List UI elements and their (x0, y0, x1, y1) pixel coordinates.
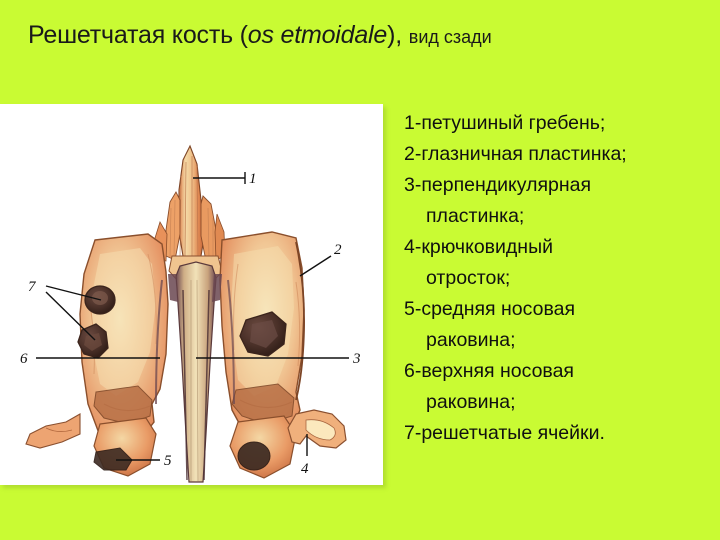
legend-item-6-line1: 6-верхняя носовая (404, 360, 574, 382)
legend-item-3-line1: 3-перпендикулярная (404, 174, 591, 196)
callout-number-6: 6 (20, 351, 28, 367)
title-main-text: Решетчатая кость ( (28, 21, 248, 49)
legend-list: 1-петушиный гребень; 2-глазничная пласти… (404, 108, 714, 449)
legend-item-3: 3-перпендикулярная пластинка; (404, 170, 714, 232)
callout-number-7: 7 (28, 279, 37, 295)
legend-item-2-line1: 2-глазничная пластинка; (404, 143, 627, 165)
legend-item-4-line2: отросток; (404, 263, 714, 294)
page-title: Решетчатая кость (os etmoidale), вид сза… (28, 22, 698, 50)
legend-item-3-line2: пластинка; (404, 201, 714, 232)
legend-item-5: 5-средняя носовая раковина; (404, 294, 714, 356)
title-latin-term: os etmoidale (248, 21, 387, 49)
crista-galli-structure (155, 146, 225, 280)
legend-item-5-line1: 5-средняя носовая (404, 298, 575, 320)
legend-item-4-line1: 4-крючковидный (404, 236, 553, 258)
callout-number-5: 5 (164, 453, 172, 469)
legend-item-5-line2: раковина; (404, 325, 714, 356)
left-labyrinth (26, 234, 168, 476)
callout-number-4: 4 (301, 461, 309, 477)
legend-item-1-line1: 1-петушиный гребень; (404, 112, 605, 134)
callout-number-1: 1 (249, 171, 257, 187)
callout-number-2: 2 (334, 242, 342, 258)
legend-item-4: 4-крючковидный отросток; (404, 232, 714, 294)
title-main-after: ), (387, 21, 409, 49)
legend-item-7-line1: 7-решетчатые ячейки. (404, 422, 605, 444)
legend-item-1: 1-петушиный гребень; (404, 108, 714, 139)
slide: Решетчатая кость (os etmoidale), вид сза… (0, 0, 720, 540)
legend-item-6: 6-верхняя носовая раковина; (404, 356, 714, 418)
legend-item-6-line2: раковина; (404, 387, 714, 418)
callout-number-3: 3 (352, 351, 361, 367)
right-labyrinth (220, 232, 346, 478)
title-subtitle: вид сзади (409, 27, 492, 47)
legend-item-7: 7-решетчатые ячейки. (404, 418, 714, 449)
legend-item-2: 2-глазничная пластинка; (404, 139, 714, 170)
figure-panel: 1 2 3 4 5 6 7 (0, 104, 383, 485)
ethmoid-bone-illustration: 1 2 3 4 5 6 7 (0, 104, 383, 485)
